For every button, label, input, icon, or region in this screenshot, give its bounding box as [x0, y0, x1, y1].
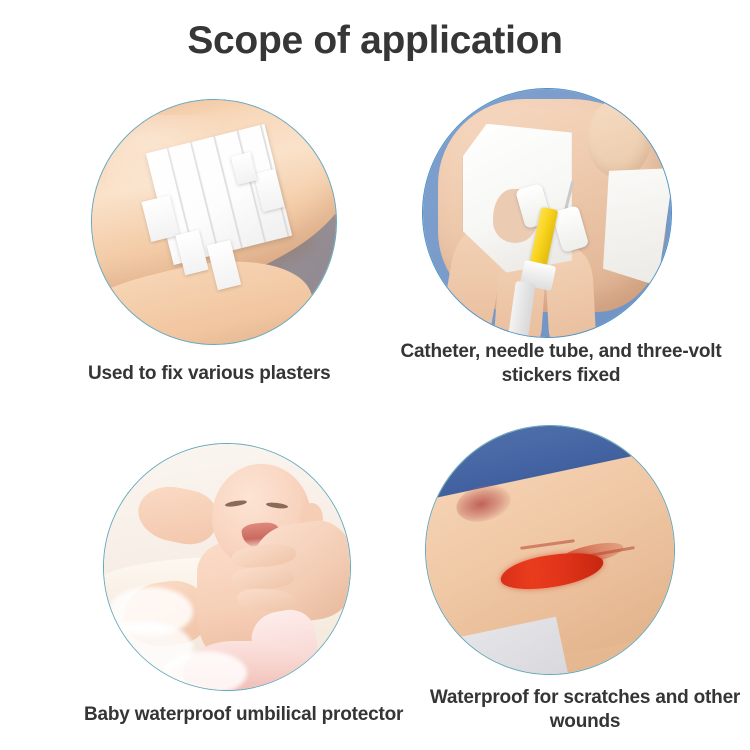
photo-baby-in-bath [103, 443, 351, 691]
photo-plasters-inner [92, 100, 336, 344]
caption-plasters: Used to fix various plasters [88, 362, 358, 386]
caption-catheter: Catheter, needle tube, and three-volt st… [372, 340, 750, 388]
photo-highlight [107, 115, 234, 213]
caption-baby: Baby waterproof umbilical protector [84, 703, 424, 727]
photo-wound-inner [426, 426, 674, 674]
thumb-pad [587, 99, 651, 178]
photo-plasters-on-arm [91, 99, 337, 345]
caption-wounds: Waterproof for scratches and other wound… [425, 686, 745, 734]
bath-foam [163, 651, 247, 690]
product-infographic-page: Scope of application Used to fix various… [0, 0, 750, 750]
photo-scraped-knee-wound [425, 425, 675, 675]
photo-iv-catheter-on-hand [422, 88, 672, 338]
photo-catheter-inner [423, 89, 671, 337]
photo-baby-inner [104, 444, 350, 690]
page-title: Scope of application [0, 18, 750, 64]
